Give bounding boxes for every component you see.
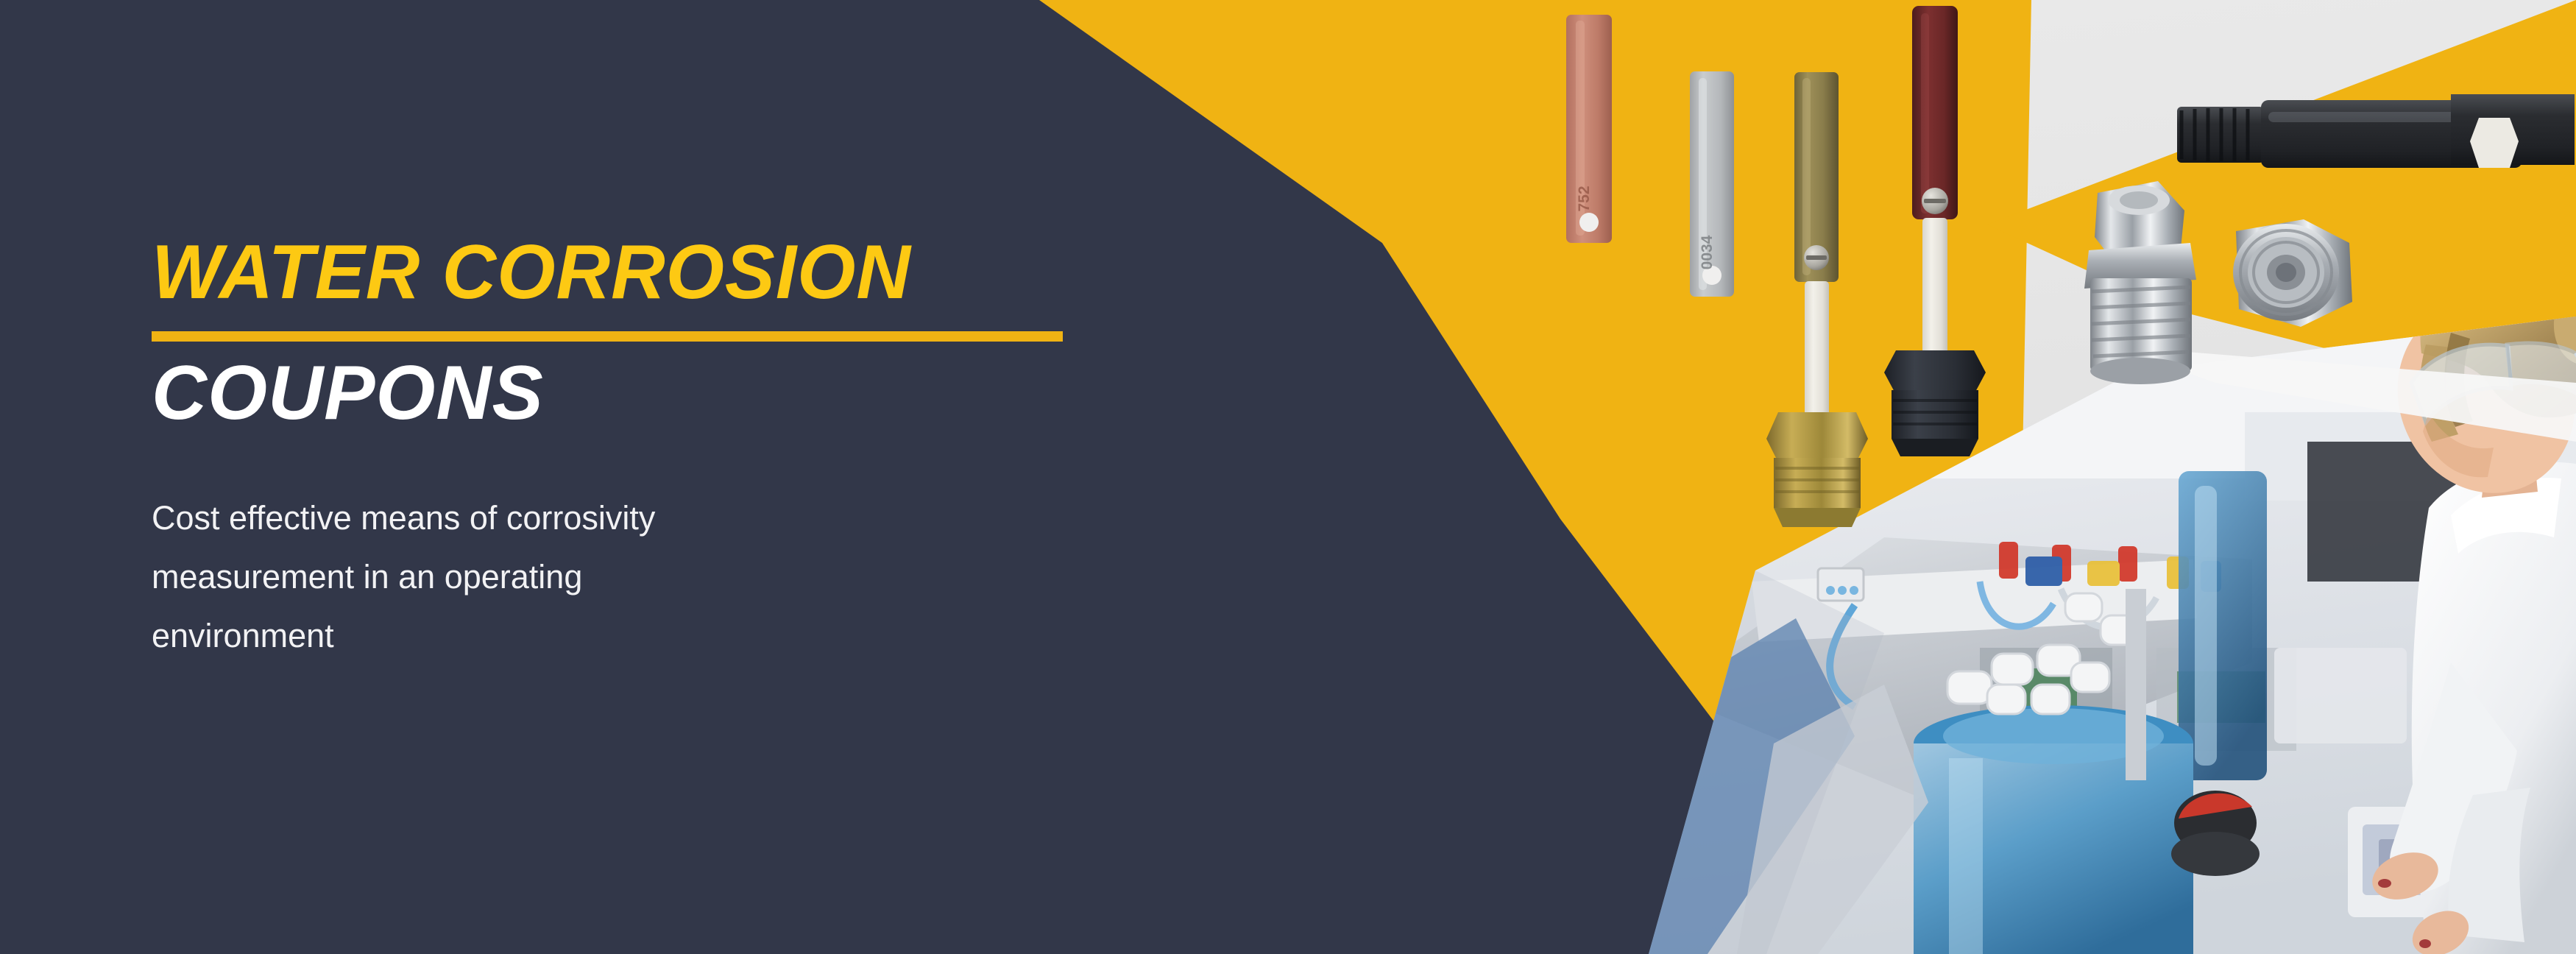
water-corrosion-coupons-banner: 752 0034 — [0, 0, 2576, 954]
subhead-line-1: Cost effective means of corrosivity — [152, 489, 1020, 548]
subhead-line-2: measurement in an operating — [152, 548, 1020, 607]
subhead-line-3: environment — [152, 607, 1020, 665]
subhead-paragraph: Cost effective means of corrosivity meas… — [152, 489, 1020, 665]
copper-flat-coupon: 752 — [1566, 15, 1612, 243]
headline-block: WATER CORROSION COUPONS Cost effective m… — [152, 234, 1108, 665]
copper-coupon-stamp: 752 — [1576, 185, 1593, 211]
square-head-pipe-plug — [2084, 181, 2196, 384]
headline-line-2: COUPONS — [152, 355, 1108, 431]
steel-coupon-stamp: 0034 — [1699, 235, 1716, 269]
headline-line-1: WATER CORROSION — [152, 234, 1089, 311]
steel-flat-coupon: 0034 — [1690, 71, 1734, 297]
headline-underline-rule — [152, 331, 1063, 342]
